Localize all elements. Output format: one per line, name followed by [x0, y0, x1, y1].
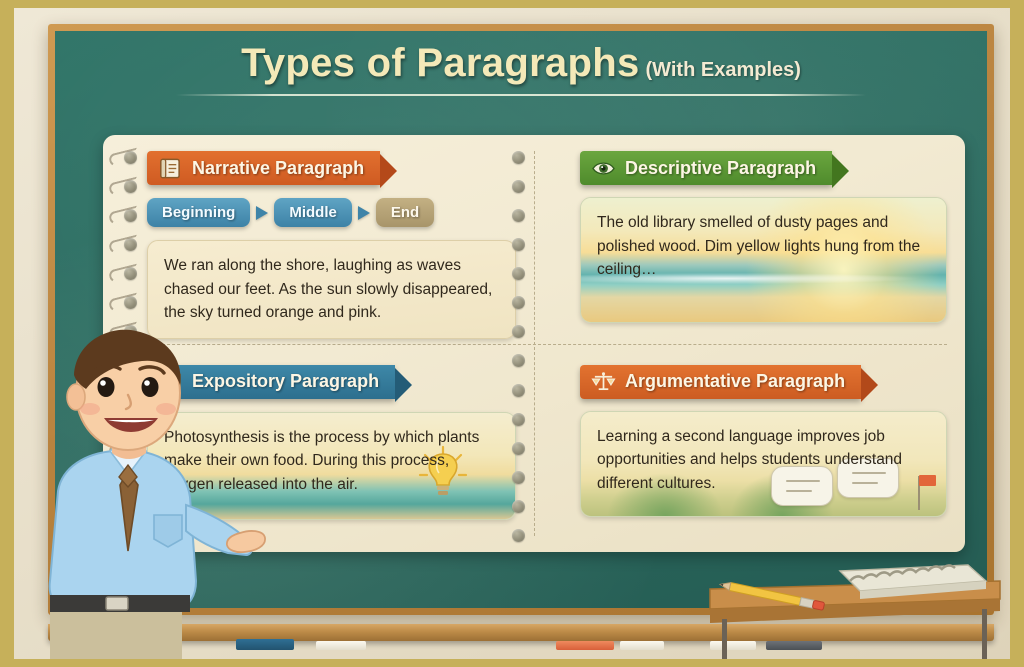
eye-icon — [591, 157, 616, 180]
binding-hole — [512, 354, 525, 367]
binding-hole — [124, 296, 137, 309]
balance-scales-icon — [591, 370, 616, 393]
binding-hole — [512, 180, 525, 193]
flow-arrow-2-icon — [358, 206, 370, 220]
closed-book-icon — [158, 157, 183, 180]
binding-hole — [512, 500, 525, 513]
desk-leg-right — [982, 609, 987, 659]
binding-hole — [124, 267, 137, 280]
binding-hole — [512, 471, 525, 484]
narrative-heading: Narrative Paragraph — [192, 158, 364, 179]
binding-hole — [124, 209, 137, 222]
binding-hole — [512, 296, 525, 309]
teacher-illustration — [14, 319, 266, 659]
chalk-ledge-item-orange-chalk[interactable] — [556, 641, 614, 650]
title-line: Types of Paragraphs(With Examples) — [55, 41, 987, 86]
flow-badge-end[interactable]: End — [376, 198, 434, 227]
binding-hole — [512, 529, 525, 542]
desk-illustration — [700, 559, 1010, 659]
ribbon-tail — [832, 154, 849, 188]
teacher-trousers — [50, 605, 182, 659]
section-descriptive: Descriptive Paragraph The old library sm… — [534, 135, 965, 349]
binding-hole — [512, 267, 525, 280]
ribbon-tail — [861, 368, 878, 402]
ribbon-tail — [395, 368, 412, 402]
chalk-ledge-item-white-chalk-1[interactable] — [316, 641, 366, 650]
teacher-eye-left — [98, 377, 115, 397]
narrative-ribbon[interactable]: Narrative Paragraph — [147, 151, 380, 185]
descriptive-example-card: The old library smelled of dusty pages a… — [580, 197, 947, 323]
desk-leg-left — [722, 619, 727, 659]
binding-hole — [512, 442, 525, 455]
binding-hole — [512, 151, 525, 164]
teacher-eye-right — [142, 377, 159, 397]
flow-badge-beginning[interactable]: Beginning — [147, 198, 250, 227]
binding-hole — [512, 384, 525, 397]
binding-hole — [512, 238, 525, 251]
descriptive-heading: Descriptive Paragraph — [625, 158, 816, 179]
teacher-cheek-right — [156, 403, 176, 415]
flow-arrow-1-icon — [256, 206, 268, 220]
ribbon-tail — [380, 154, 397, 188]
argumentative-example-text: Learning a second language improves job … — [597, 425, 930, 496]
binding-hole — [124, 238, 137, 251]
teacher-pocket — [154, 515, 182, 547]
argumentative-heading: Argumentative Paragraph — [625, 371, 845, 392]
binding-holes-center — [507, 151, 529, 542]
descriptive-example-text: The old library smelled of dusty pages a… — [597, 211, 930, 282]
argumentative-ribbon[interactable]: Argumentative Paragraph — [580, 365, 861, 399]
binding-hole — [124, 180, 137, 193]
binding-hole — [512, 325, 525, 338]
page-subtitle: (With Examples) — [646, 59, 801, 81]
title-area: Types of Paragraphs(With Examples) — [55, 41, 987, 96]
section-argumentative: Argumentative Paragraph — [534, 349, 965, 552]
narrative-example-text: We ran along the shore, laughing as wave… — [164, 254, 499, 325]
page-title: Types of Paragraphs — [241, 41, 639, 85]
teacher-cheek-left — [80, 403, 100, 415]
flow-badge-middle[interactable]: Middle — [274, 198, 352, 227]
binding-hole — [512, 209, 525, 222]
argumentative-example-card: Learning a second language improves job … — [580, 411, 947, 517]
chalk-ledge-item-white-chalk-2[interactable] — [620, 641, 664, 650]
section-narrative: Narrative Paragraph Beginning Middle End… — [103, 135, 534, 349]
title-underline — [176, 94, 866, 96]
infographic-scene: Types of Paragraphs(With Examples) — [0, 0, 1024, 667]
binding-hole — [124, 151, 137, 164]
teacher-belt-buckle — [106, 597, 128, 610]
descriptive-ribbon[interactable]: Descriptive Paragraph — [580, 151, 832, 185]
binding-hole — [512, 413, 525, 426]
narrative-flow: Beginning Middle End — [147, 198, 516, 227]
pencil-eraser — [812, 600, 824, 610]
